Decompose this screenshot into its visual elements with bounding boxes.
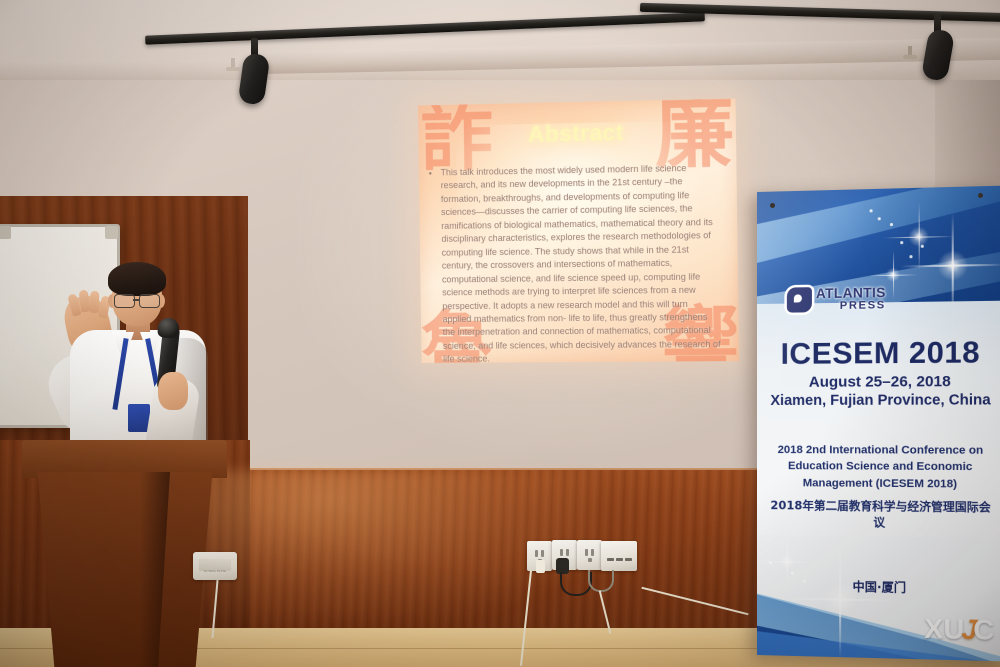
slide-body-text: This talk introduces the most widely use… — [440, 161, 720, 363]
outlet-slot — [541, 550, 544, 557]
eyeglasses-icon — [139, 294, 160, 308]
outlet-slot — [535, 550, 538, 557]
eyeglasses-bridge — [133, 299, 140, 301]
sparkle-dot-icon — [769, 561, 771, 564]
data-port-slot — [625, 558, 632, 561]
lectern — [32, 472, 218, 667]
finger — [90, 291, 100, 313]
outlet-slot — [585, 549, 588, 556]
slide-title: Abstract — [418, 117, 736, 150]
atlantis-emblem-icon — [787, 287, 812, 312]
xujc-watermark-logo: XU J C — [924, 612, 994, 646]
sparkle-dot-icon — [921, 245, 924, 248]
cable-loop — [588, 570, 614, 592]
eyeglasses-icon — [114, 294, 135, 308]
banner-mount-pin — [978, 193, 983, 198]
banner-conference-fullname-cn: 2018年第二届教育科学与经济管理国际会议 — [767, 497, 994, 532]
whiteboard-corner — [105, 226, 118, 239]
slide-bullet-marker: • — [429, 169, 432, 179]
sparkle-icon — [779, 553, 795, 569]
atlantis-wordmark: ATLANTIS PRESS — [816, 286, 886, 312]
speaker-mic-hand — [158, 372, 188, 410]
sparkle-dot-icon — [900, 241, 903, 244]
projected-slide: 詐 廉 魯 響 Abstract • This talk introduces … — [418, 98, 739, 362]
speaker-hair — [108, 262, 166, 296]
sparkle-dot-icon — [791, 572, 794, 575]
data-port-slot — [616, 558, 623, 561]
sparkle-dot-icon — [878, 217, 881, 220]
banner-location: Xiamen, Fujian Province, China — [757, 392, 1000, 409]
xujc-part-c: C — [973, 613, 994, 646]
banner-conference-acronym: ICESEM 2018 — [757, 336, 1000, 372]
fire-sprinkler-icon — [226, 58, 240, 74]
conference-rollup-banner: ATLANTIS PRESS ICESEM 2018 August 25–26,… — [757, 186, 1000, 662]
wall-av-plate-label: AV WALL PLATE — [193, 570, 237, 573]
sparkle-icon — [908, 226, 929, 247]
xujc-part-xu: XU — [924, 612, 964, 646]
banner-mount-pin — [770, 203, 775, 208]
whiteboard-corner — [0, 226, 11, 239]
data-port-slot — [607, 558, 614, 561]
outlet-slot — [566, 549, 569, 556]
wall-data-outlet[interactable] — [601, 541, 637, 571]
atlantis-logo-line2: PRESS — [816, 300, 886, 312]
presentation-photo-scene: 詐 廉 魯 響 Abstract • This talk introduces … — [0, 0, 1000, 667]
sparkle-dot-icon — [870, 209, 873, 212]
fire-sprinkler-icon — [903, 46, 917, 62]
outlet-slot — [588, 558, 592, 562]
power-plug — [536, 560, 545, 573]
banner-dates: August 25–26, 2018 — [757, 373, 1000, 391]
outlet-slot — [560, 549, 563, 556]
wall-power-outlet[interactable] — [577, 540, 602, 570]
sparkle-dot-icon — [909, 255, 912, 258]
outlet-slot — [591, 549, 594, 556]
banner-conference-fullname: 2018 2nd International Conference on Edu… — [771, 442, 990, 493]
sparkle-dot-icon — [890, 223, 893, 226]
atlantis-press-logo: ATLANTIS PRESS — [787, 286, 886, 313]
wall-av-plate[interactable]: AV WALL PLATE — [193, 552, 237, 580]
